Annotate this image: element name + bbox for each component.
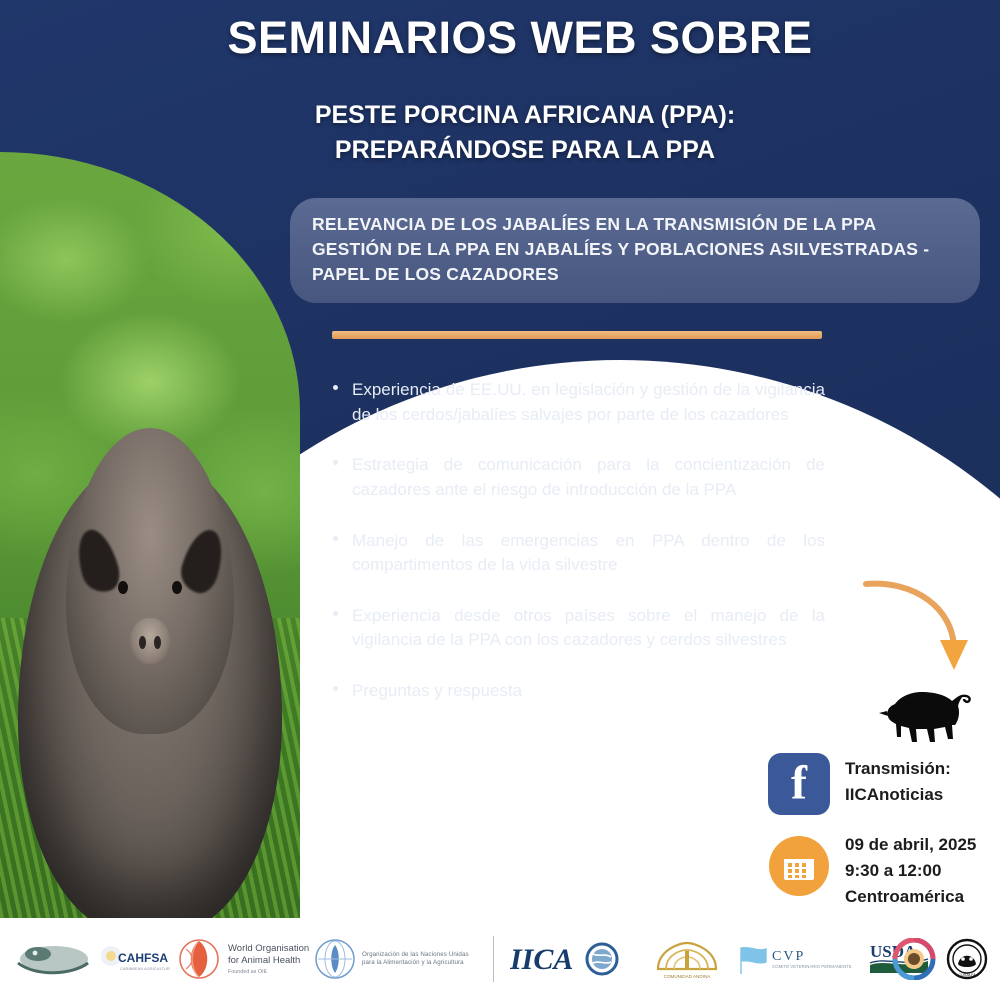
list-item: Experiencia desde otros países sobre el … [330,604,825,653]
list-item: Experiencia de EE.UU. en legislación y g… [330,378,825,427]
svg-text:CVP: CVP [772,949,805,964]
boar-eye-right [172,581,182,594]
list-item-text: Preguntas y respuesta [352,681,522,700]
page-title: SEMINARIOS WEB SOBRE [180,12,860,64]
calendar-glyph [769,836,829,896]
boar-ear-right [175,525,228,597]
cahfsa-logo: CAHFSA CARIBBEAN AGRICULTURAL [96,940,170,978]
schedule-timezone: Centroamérica [845,884,1000,910]
schedule-info: 09 de abril, 2025 9:30 a 12:00 Centroamé… [845,832,1000,909]
list-item: Manejo de las emergencias en PPA dentro … [330,529,825,578]
facebook-icon[interactable]: f [768,753,830,815]
cvp-caption: COMITÉ VETERINARIO PERMANENTE DEL CONO S… [772,964,852,969]
broadcast-channel: IICAnoticias [845,782,1000,808]
osa-logo [892,938,936,980]
wild-boar-photo [0,152,300,918]
woah-label-line2: for Animal Health [228,955,309,967]
page-subtitle-line1: PESTE PORCINA AFRICANA (PPA): [215,98,835,133]
iica-logo: IICA [510,939,630,979]
cvp-logo: CVP COMITÉ VETERINARIO PERMANENTE DEL CO… [736,940,852,978]
can-logo: COMUNIDAD ANDINA [648,937,726,981]
fao-label-line1: Organización de las Naciones Unidas [362,951,469,959]
svg-text:CARIBBEAN AGRICULTURAL: CARIBBEAN AGRICULTURAL [120,966,170,971]
bullet-dot-icon [333,385,338,390]
bullet-dot-icon [333,686,338,691]
calendar-icon [769,836,829,896]
boar-nostril-left [139,636,146,649]
webinar-poster: SEMINARIOS WEB SOBRE PESTE PORCINA AFRIC… [0,0,1000,1000]
page-subtitle: PESTE PORCINA AFRICANA (PPA): PREPARÁNDO… [215,98,835,167]
svg-text:IICA: IICA [510,943,573,976]
can-caption: COMUNIDAD ANDINA [664,974,712,979]
gold-divider [332,331,822,339]
svg-text:COSALFA: COSALFA [958,973,976,977]
broadcast-info: Transmisión: IICAnoticias [845,756,1000,807]
oirsa-logo [14,939,92,979]
fao-logo: Organización de las Naciones Unidas para… [314,938,469,980]
woah-logo: World Organisation for Animal Health Fou… [176,937,309,981]
list-item-text: Experiencia desde otros países sobre el … [352,606,825,650]
footer-divider [493,936,494,982]
schedule-date: 09 de abril, 2025 [845,832,1000,858]
boar-snout [130,618,170,664]
list-item: Estrategia de comunicación para la conci… [330,453,825,502]
schedule-time: 9:30 a 12:00 [845,858,1000,884]
boar-eye-left [118,581,128,594]
fao-label-line2: para la Alimentación y la Agricultura [362,959,469,967]
list-item-text: Manejo de las emergencias en PPA dentro … [352,531,825,575]
bullet-dot-icon [333,611,338,616]
broadcast-label: Transmisión: [845,756,1000,782]
boar-silhouette-icon [876,682,972,748]
curved-arrow-icon [862,578,982,683]
cosalfa-logo: COSALFA [944,938,990,980]
topic-banner: RELEVANCIA DE LOS JABALÍES EN LA TRANSMI… [290,198,980,303]
woah-label-line1: World Organisation [228,943,309,955]
boar-ear-left [71,525,124,597]
agenda-list: Experiencia de EE.UU. en legislación y g… [330,378,825,704]
boar-nostril-right [154,636,161,649]
bullet-dot-icon [333,460,338,465]
footer-logo-strip: CAHFSA CARIBBEAN AGRICULTURAL World Orga… [0,918,1000,1000]
page-subtitle-line2: PREPARÁNDOSE PARA LA PPA [215,133,835,168]
list-item-text: Estrategia de comunicación para la conci… [352,455,825,499]
list-item-text: Experiencia de EE.UU. en legislación y g… [352,380,825,424]
svg-text:CAHFSA: CAHFSA [118,951,168,965]
bullet-dot-icon [333,536,338,541]
list-item: Preguntas y respuesta [330,679,825,704]
